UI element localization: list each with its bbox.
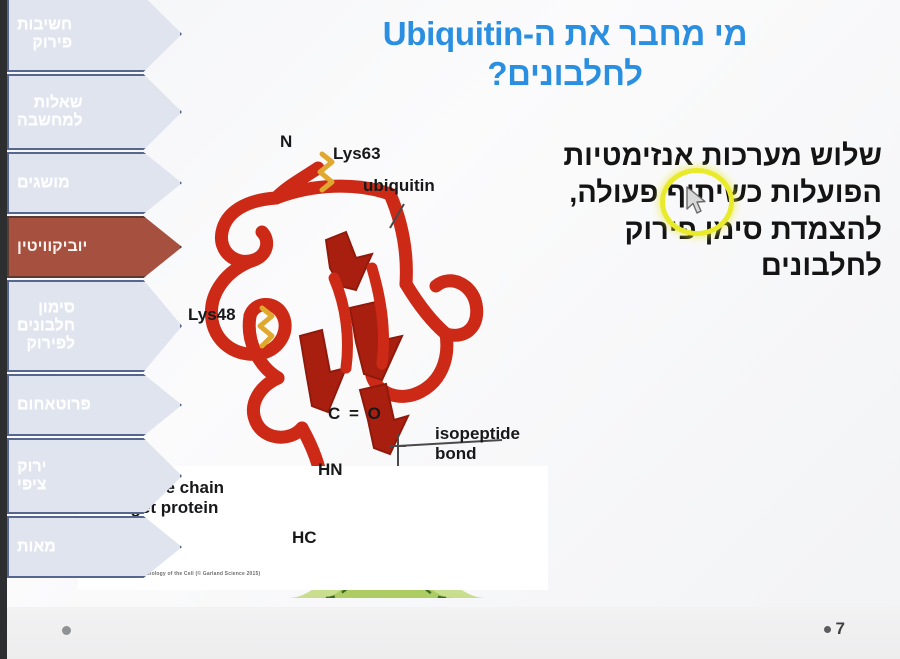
- mouse-cursor-icon: [686, 186, 708, 216]
- slide-title-line-2: לחלבונים?: [250, 54, 880, 94]
- sidebar-item-label: ציפי: [17, 476, 47, 494]
- slide-title: מי מחבר את ה-Ubiquitin לחלבונים?: [250, 14, 880, 95]
- sidebar-item-nonspecific-degradation[interactable]: ירוק ציפי: [7, 438, 182, 514]
- slide-navigation-sidebar: חשיבות פירוק שאלות למחשבה מושגים יוביקוו…: [7, 0, 182, 580]
- sidebar-item-label: סימון: [17, 299, 75, 317]
- presentation-slide: חשיבות פירוק שאלות למחשבה מושגים יוביקוו…: [0, 0, 900, 659]
- sidebar-item-ubiquitin[interactable]: יוביקוויטין: [7, 216, 182, 278]
- sidebar-item-proteasome[interactable]: פרוטאחום: [7, 374, 182, 436]
- label-hc: HC: [292, 528, 317, 548]
- label-carbonyl: C = O: [328, 404, 383, 424]
- body-text-line-4: לחלבונים: [452, 248, 882, 285]
- sidebar-item-label: פירוק: [17, 34, 72, 52]
- page-number-value: 7: [836, 619, 845, 639]
- sidebar-item-label: יוביקוויטין: [17, 238, 87, 256]
- body-text-line-1: שלוש מערכות אנזימטיות: [452, 138, 882, 175]
- label-isopeptide-bond: isopeptide bond: [435, 424, 520, 465]
- sidebar-item-marking-proteins-for-degradation[interactable]: סימון חלבונים לפירוק: [7, 280, 182, 372]
- page-number-indicator: 7: [824, 619, 845, 639]
- sidebar-item-examples[interactable]: מאות: [7, 516, 182, 578]
- label-lys63: Lys63: [333, 144, 381, 164]
- sidebar-item-label: מושגים: [17, 174, 70, 192]
- footer-left-dot-icon[interactable]: [62, 626, 71, 635]
- sidebar-item-label: פרוטאחום: [17, 396, 91, 414]
- label-lys48: Lys48: [188, 305, 236, 325]
- label-isopeptide-line-2: bond: [435, 444, 520, 464]
- sidebar-item-label: מאות: [17, 538, 56, 556]
- slide-footer-bar: 7: [7, 607, 900, 659]
- sidebar-item-label: חלבונים: [17, 317, 75, 335]
- slide-title-line-1: מי מחבר את ה-Ubiquitin: [250, 14, 880, 54]
- label-isopeptide-line-1: isopeptide: [435, 424, 520, 444]
- sidebar-item-questions-for-thought[interactable]: שאלות למחשבה: [7, 74, 182, 150]
- sidebar-item-label: חשיבות: [17, 16, 72, 34]
- sidebar-item-importance-of-degradation[interactable]: חשיבות פירוק: [7, 0, 182, 72]
- sidebar-item-label: שאלות: [17, 94, 83, 112]
- capture-left-edge: [0, 0, 7, 659]
- label-hn: HN: [318, 460, 343, 480]
- sidebar-item-concepts[interactable]: מושגים: [7, 152, 182, 214]
- page-bullet-icon: [824, 626, 831, 633]
- label-n-terminus: N: [280, 132, 292, 152]
- sidebar-item-label: למחשבה: [17, 112, 83, 130]
- label-ubiquitin: ubiquitin: [363, 176, 435, 196]
- sidebar-item-label: לפירוק: [17, 335, 75, 353]
- sidebar-item-label: ירוק: [17, 458, 47, 476]
